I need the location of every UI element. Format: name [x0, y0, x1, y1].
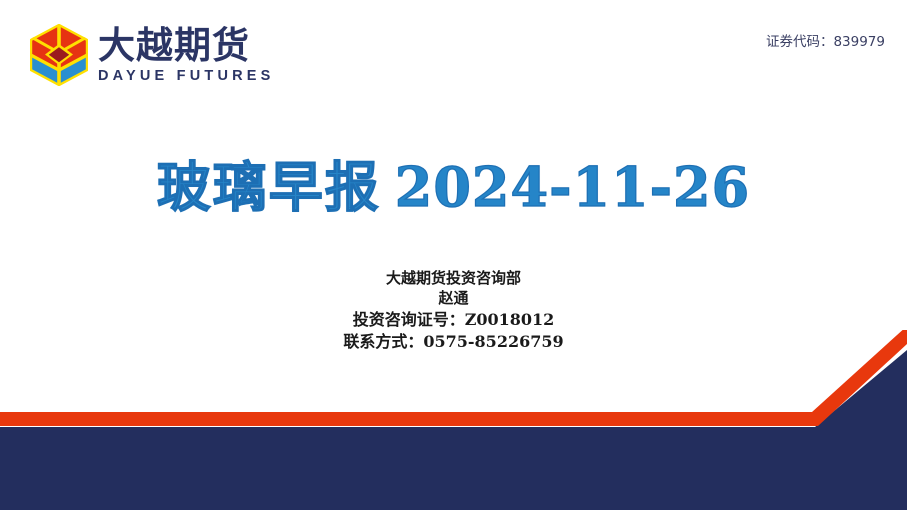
page-title: 玻璃早报2024-11-26 [0, 143, 907, 222]
brand-wordmark: 大越期货 DAYUE FUTURES [98, 27, 275, 84]
department-label: 大越期货投资咨询部 [0, 268, 907, 288]
brand-logo: 大越期货 DAYUE FUTURES [30, 24, 275, 86]
securities-code-label: 证券代码：839979 [766, 30, 885, 50]
certificate-number-label: 投资咨询证号：Z0018012 [0, 309, 907, 331]
analyst-name-label: 赵通 [0, 288, 907, 308]
footer-band-graphic [0, 330, 907, 510]
dayue-hexagon-logo-icon [30, 24, 88, 86]
brand-name-cn: 大越期货 [98, 27, 275, 64]
footer-decoration [0, 330, 907, 510]
navy-band [0, 350, 907, 510]
report-cover-slide: 大越期货 DAYUE FUTURES 证券代码：839979 玻璃早报2024-… [0, 0, 907, 510]
brand-name-en: DAYUE FUTURES [98, 69, 275, 84]
page-title-text: 玻璃早报 [157, 155, 381, 219]
orange-stripe [0, 330, 907, 426]
page-title-date: 2024-11-26 [381, 155, 750, 219]
